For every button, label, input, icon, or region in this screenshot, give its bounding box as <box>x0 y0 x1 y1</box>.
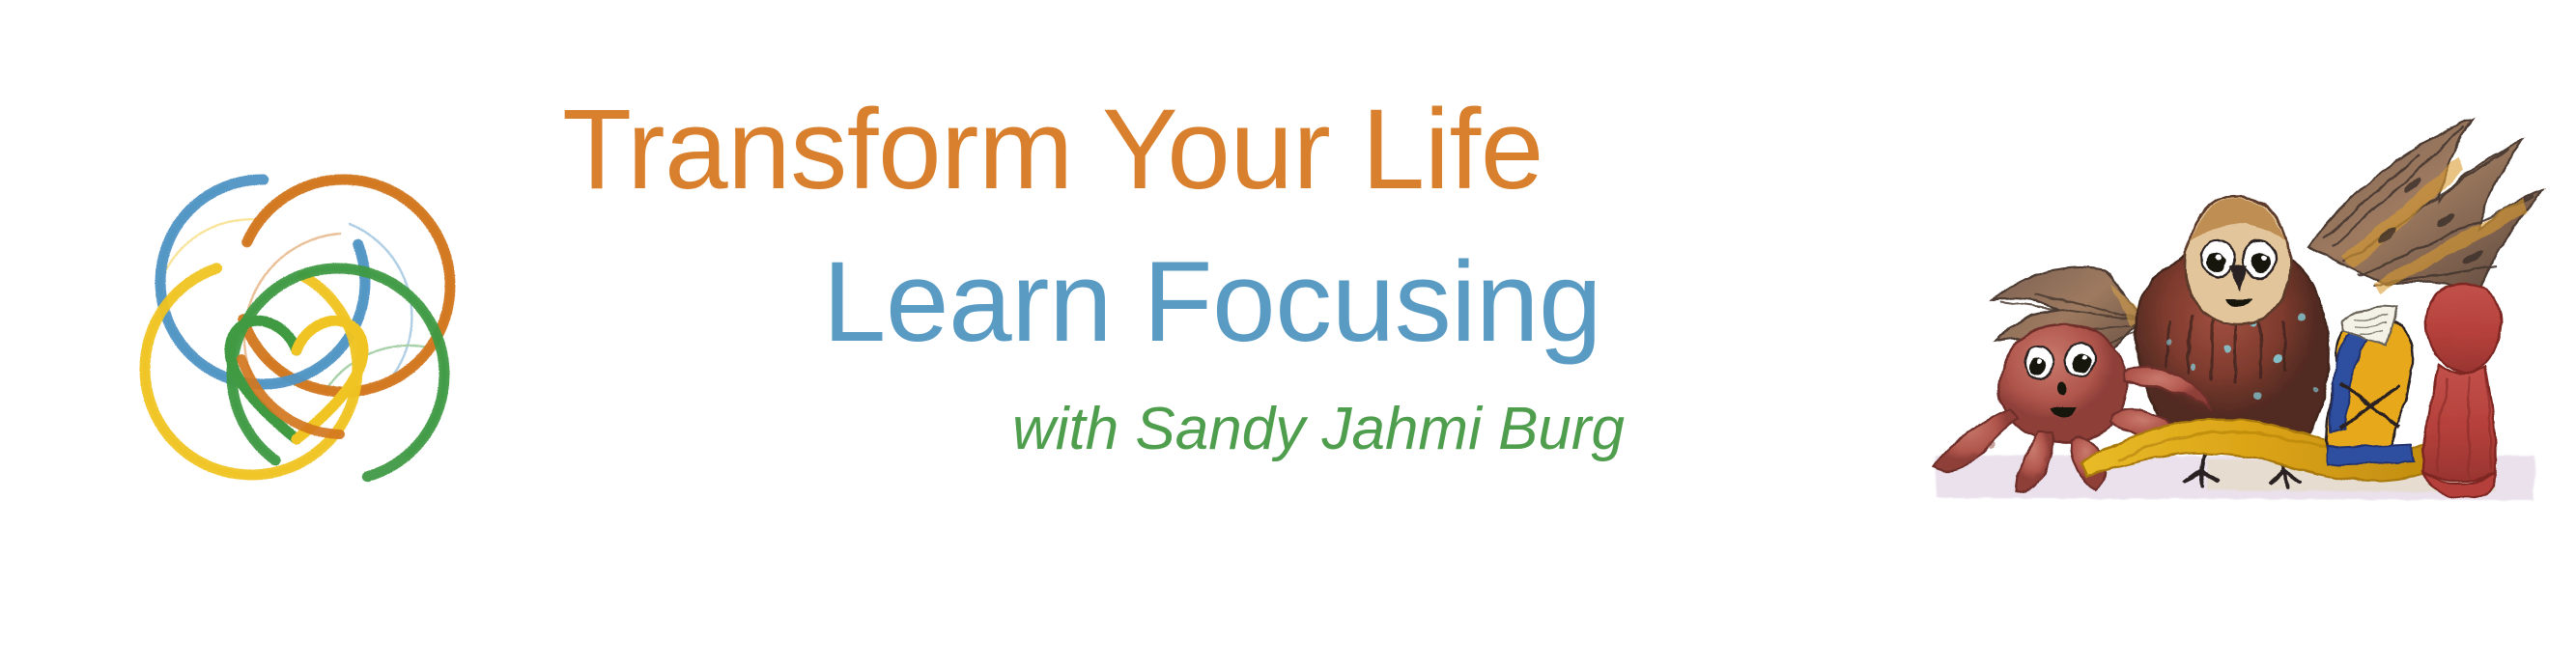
brand-logo[interactable] <box>97 116 502 521</box>
robed-figure-with-scroll <box>2327 306 2414 465</box>
owl-head <box>2186 197 2290 324</box>
headline-block: Transform Your Life Learn Focusing with … <box>541 93 1893 546</box>
headline-line-learn: Learn Focusing <box>541 245 1893 359</box>
red-cloaked-figure <box>2421 284 2500 498</box>
headline-byline: with Sandy Jahmi Burg <box>541 400 1893 459</box>
site-header-banner: Transform Your Life Learn Focusing with … <box>0 0 2576 667</box>
headline-line-transform: Transform Your Life <box>541 93 1893 207</box>
logo-ring-orange <box>238 180 450 392</box>
owl-right-wing <box>2307 120 2543 293</box>
watercolour-owl-illustration <box>1917 77 2555 521</box>
